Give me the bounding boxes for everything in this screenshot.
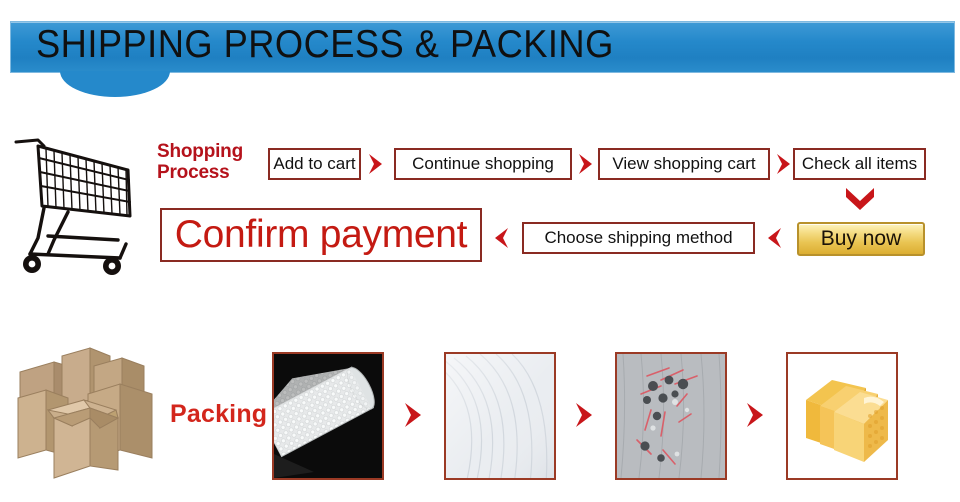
packing-material-thumb-bubble-wrap-roll xyxy=(272,352,384,480)
shipping-process-infographic: SHIPPING PROCESS & PACKING xyxy=(0,0,960,502)
step-choose-shipping-method[interactable]: Choose shipping method xyxy=(522,222,755,254)
chevron-down-icon xyxy=(843,184,877,214)
step-add-to-cart[interactable]: Add to cart xyxy=(268,148,361,180)
packing-material-thumb-parts-in-bubble-wrap xyxy=(615,352,727,480)
packing-label: Packing xyxy=(170,400,267,429)
chevron-left-icon xyxy=(760,225,786,251)
chevron-right-icon xyxy=(574,151,600,177)
shopping-process-label: Shopping Process xyxy=(157,141,267,183)
packing-material-thumb-padded-envelopes xyxy=(786,352,898,480)
header-banner: SHIPPING PROCESS & PACKING xyxy=(10,21,955,73)
step-view-shopping-cart[interactable]: View shopping cart xyxy=(598,148,770,180)
cardboard-boxes-icon xyxy=(12,340,172,480)
header-banner-tab xyxy=(60,71,170,97)
step-confirm-payment[interactable]: Confirm payment xyxy=(160,208,482,262)
shopping-cart-icon xyxy=(8,128,148,276)
chevron-left-icon xyxy=(487,225,513,251)
buy-now-button[interactable]: Buy now xyxy=(797,222,925,256)
chevron-right-icon xyxy=(400,400,428,430)
chevron-right-icon xyxy=(742,400,770,430)
shopping-process-label-line1: Shopping xyxy=(157,141,267,162)
chevron-right-icon xyxy=(364,151,390,177)
step-check-all-items[interactable]: Check all items xyxy=(793,148,926,180)
packing-material-thumb-bubble-sheet xyxy=(444,352,556,480)
step-continue-shopping[interactable]: Continue shopping xyxy=(394,148,572,180)
shopping-process-label-line2: Process xyxy=(157,162,267,183)
chevron-right-icon xyxy=(571,400,599,430)
page-title: SHIPPING PROCESS & PACKING xyxy=(36,19,614,71)
